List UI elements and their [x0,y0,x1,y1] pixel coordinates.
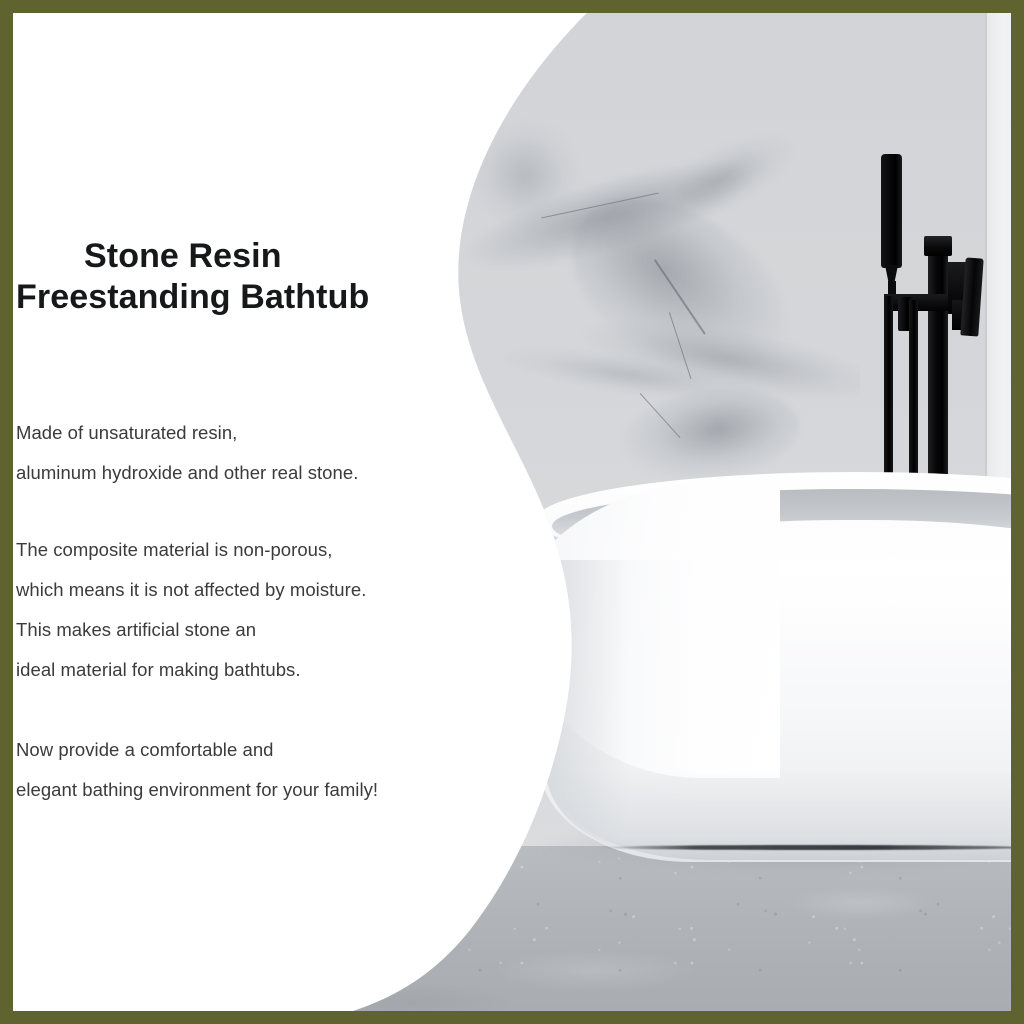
paragraph-line: ideal material for making bathtubs. [16,650,446,690]
paragraph-line: which means it is not affected by moistu… [16,570,446,610]
page-title: Stone Resin Freestanding Bathtub [16,236,436,318]
text-panel: Stone Resin Freestanding Bathtub Made of… [0,0,470,1024]
paragraph-line: elegant bathing environment for your fam… [16,770,446,810]
paragraph-closing: Now provide a comfortable and elegant ba… [16,730,446,810]
headline-line-2: Freestanding Bathtub [16,277,436,318]
product-banner: Stone Resin Freestanding Bathtub Made of… [0,0,1024,1024]
paragraph-line: Made of unsaturated resin, [16,413,446,453]
paragraph-line: The composite material is non-porous, [16,530,446,570]
paragraph-line: aluminum hydroxide and other real stone. [16,453,446,493]
tub-contact-shadow [600,845,1024,850]
headline-line-1: Stone Resin [84,236,436,277]
paragraph-material: Made of unsaturated resin, aluminum hydr… [16,413,446,493]
paragraph-line: Now provide a comfortable and [16,730,446,770]
paragraph-performance: The composite material is non-porous, wh… [16,530,446,690]
paragraph-line: This makes artificial stone an [16,610,446,650]
